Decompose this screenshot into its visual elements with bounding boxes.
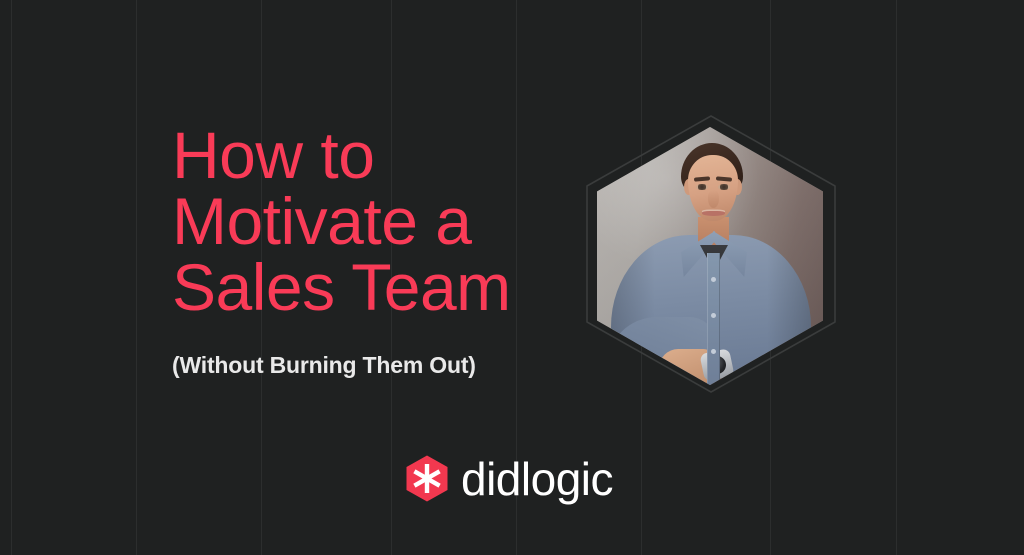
- gridline: [11, 0, 12, 555]
- logo-wordmark: didlogic: [461, 456, 613, 502]
- headline-line-3: Sales Team: [172, 254, 572, 320]
- headline-line-1: How to: [172, 122, 572, 188]
- shirt-button: [711, 349, 716, 354]
- shirt-button: [711, 313, 716, 318]
- hexagon-asterisk-icon: [406, 455, 448, 502]
- shirt-placket: [707, 253, 720, 385]
- nose: [708, 190, 719, 208]
- mouth: [702, 211, 725, 216]
- portrait-figure: [584, 113, 838, 395]
- eye-left: [696, 184, 708, 190]
- gridline: [896, 0, 897, 555]
- gridline: [136, 0, 137, 555]
- brand-logo: didlogic: [406, 455, 613, 502]
- subtitle: (Without Burning Them Out): [172, 350, 476, 380]
- eye-right: [718, 184, 730, 190]
- shirt-button: [711, 277, 716, 282]
- headline-line-2: Motivate a: [172, 188, 572, 254]
- headline: How to Motivate a Sales Team: [172, 122, 572, 320]
- slide-canvas: How to Motivate a Sales Team (Without Bu…: [0, 0, 1024, 555]
